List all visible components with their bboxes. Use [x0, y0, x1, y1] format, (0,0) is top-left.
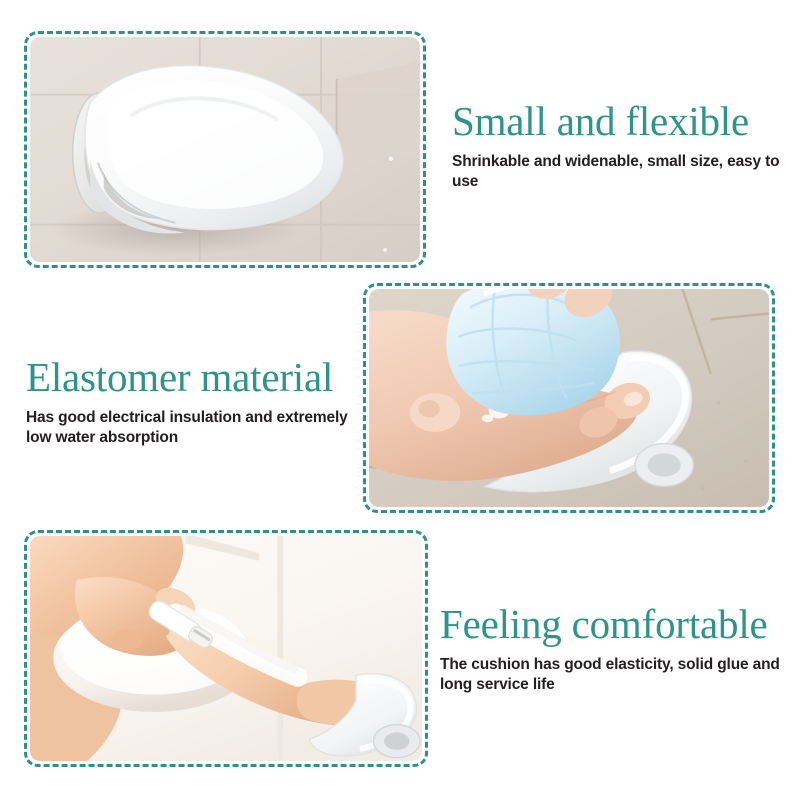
photo-clip: [30, 37, 420, 262]
photo-clip: [30, 536, 422, 761]
feature-photo-frame-feeling-comfortable: [24, 530, 428, 767]
feature-photo-frame-small-and-flexible: [24, 31, 426, 268]
shower-foot-rest-on-tile-wall-icon: [30, 37, 420, 262]
feature-description-feeling-comfortable: The cushion has good elasticity, solid g…: [440, 655, 790, 695]
feature-headline-elastomer-material: Elastomer material: [26, 356, 366, 399]
feature-text-elastomer-material: Elastomer material Has good electrical i…: [26, 356, 366, 448]
foot-washed-with-loofah-on-step-icon: [369, 289, 769, 507]
feature-description-small-and-flexible: Shrinkable and widenable, small size, ea…: [452, 152, 788, 192]
photo-clip: [369, 289, 769, 507]
feature-description-elastomer-material: Has good electrical insulation and extre…: [26, 408, 366, 448]
feature-photo-frame-elastomer-material: [363, 283, 775, 513]
infographic-canvas: Small and flexible Shrinkable and widena…: [0, 0, 800, 800]
feature-headline-feeling-comfortable: Feeling comfortable: [440, 603, 790, 646]
feature-text-small-and-flexible: Small and flexible Shrinkable and widena…: [452, 100, 788, 192]
woman-shaving-leg-with-foot-on-step-icon: [30, 536, 422, 761]
feature-headline-small-and-flexible: Small and flexible: [452, 100, 788, 143]
feature-text-feeling-comfortable: Feeling comfortable The cushion has good…: [440, 603, 790, 695]
